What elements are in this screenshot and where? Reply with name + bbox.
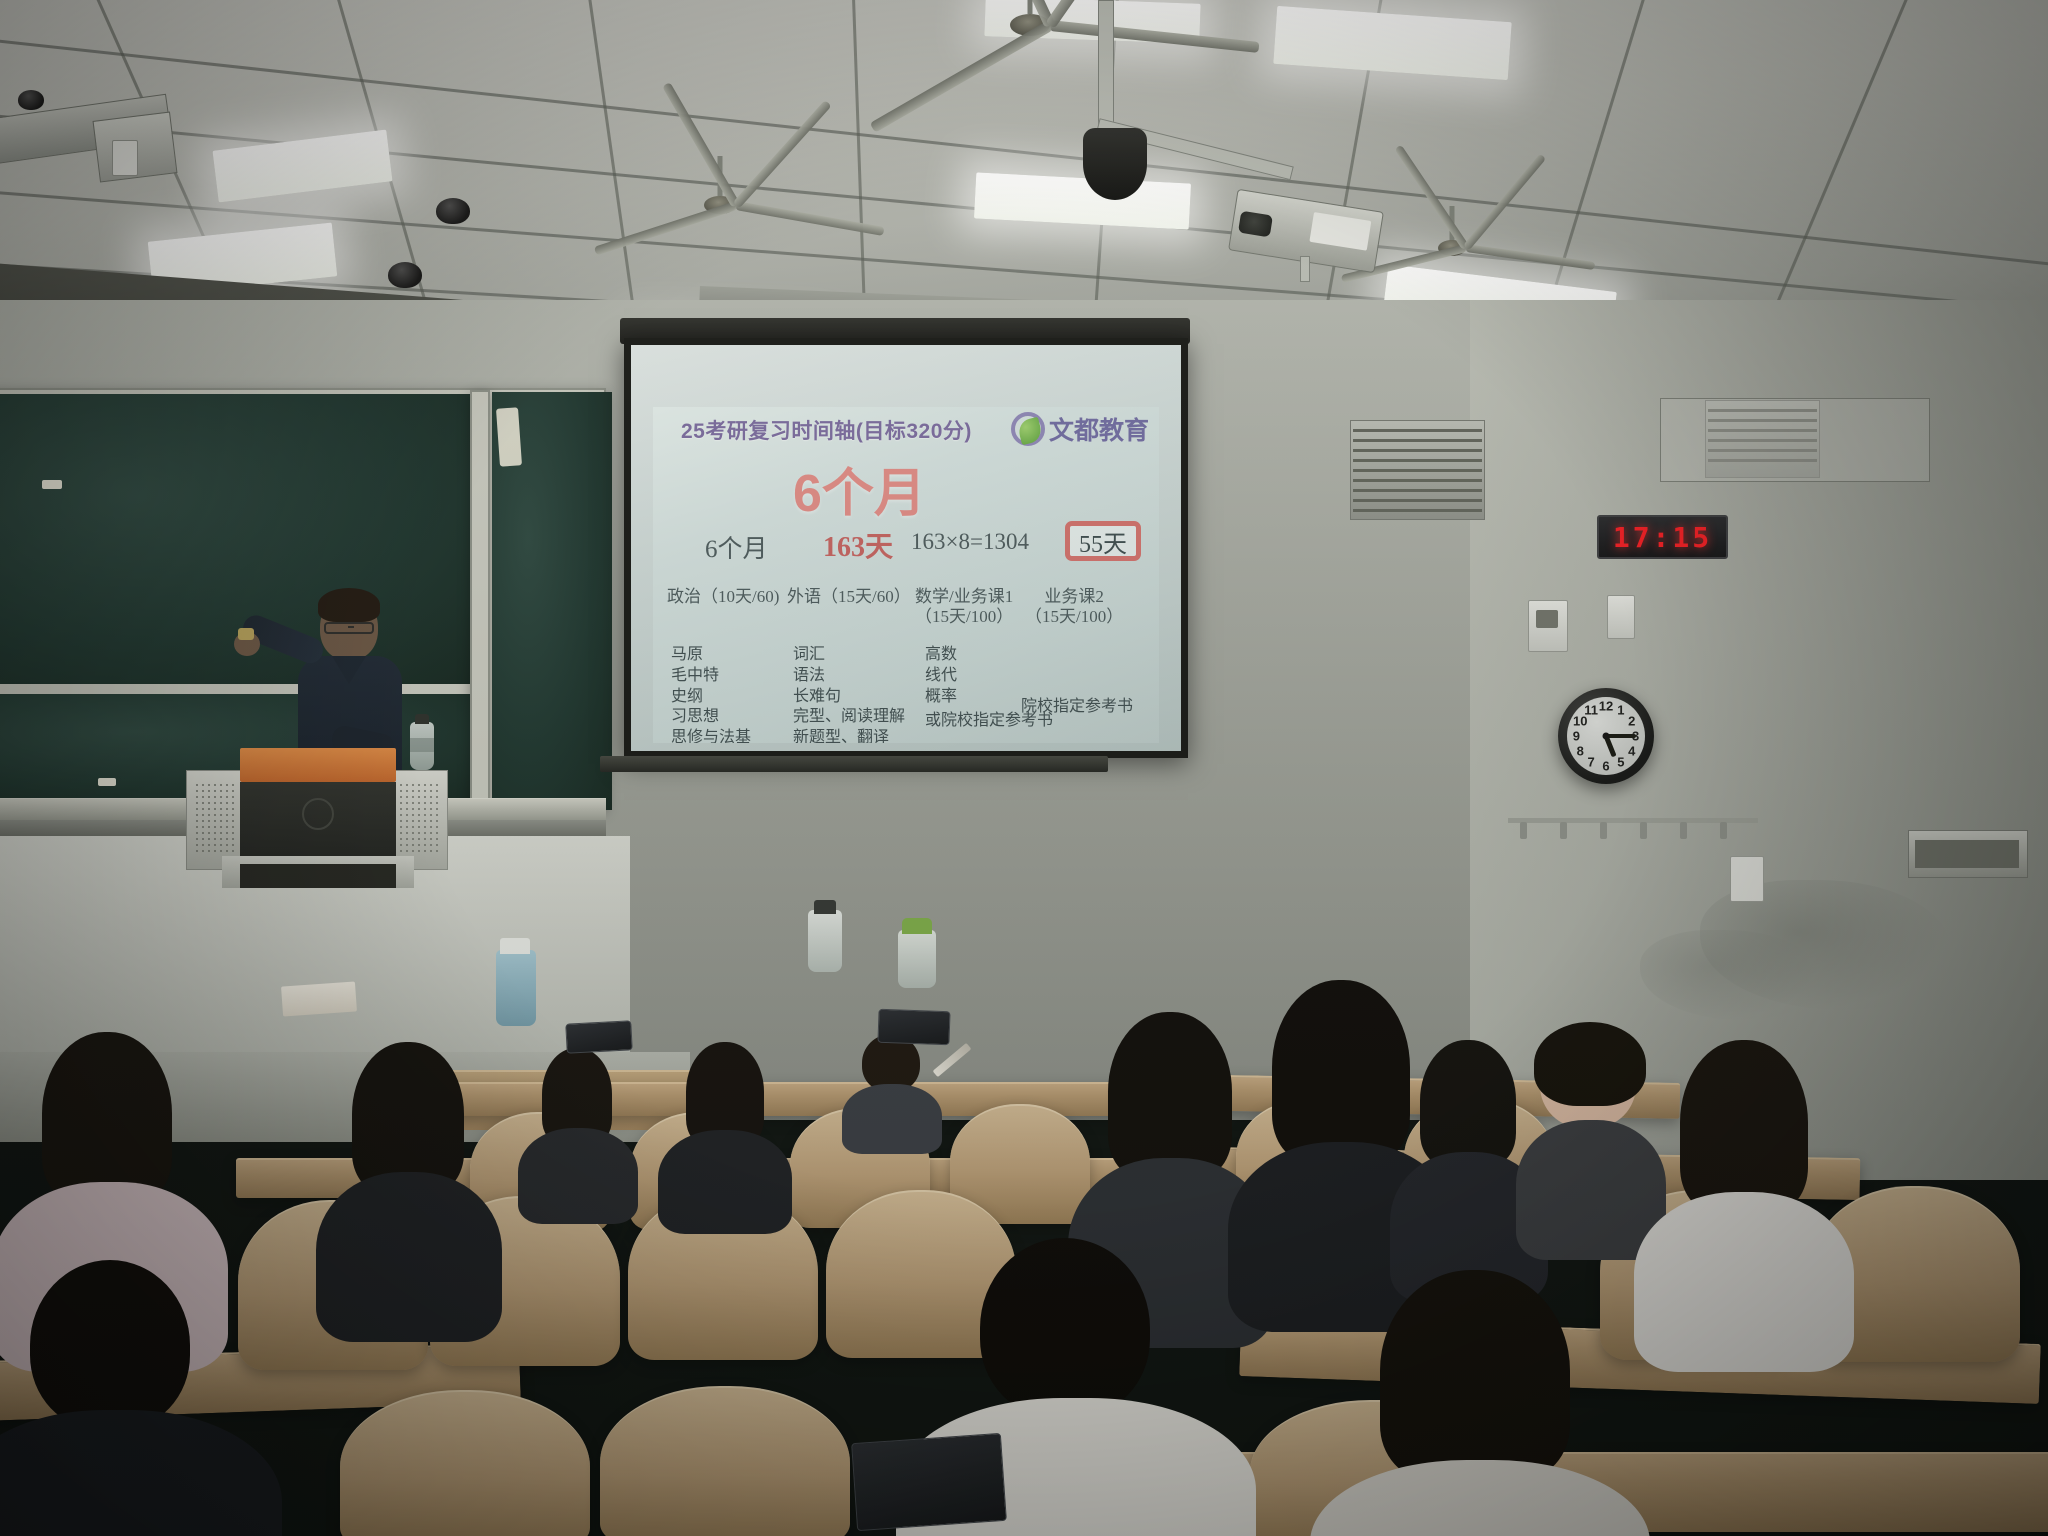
seat-back	[600, 1386, 850, 1536]
notebook-page[interactable]	[281, 981, 357, 1016]
clock-hour-4: 4	[1628, 743, 1635, 758]
list-item: 长难句	[793, 687, 905, 708]
list-item: 新题型、翻译	[793, 728, 905, 743]
bottle-cap	[902, 918, 932, 934]
clock-hour-6: 6	[1602, 758, 1609, 773]
column-header-politics: 政治（10天/60)	[667, 587, 779, 607]
clock-hour-1: 1	[1617, 703, 1624, 718]
slide-headline: 6个月	[793, 451, 926, 526]
coat-hook	[1640, 822, 1647, 839]
water-bottle[interactable]	[898, 930, 936, 988]
seat-back	[340, 1390, 590, 1536]
projector-support	[1300, 256, 1310, 282]
coat-hook	[1560, 822, 1567, 839]
column-items-major2: 院校指定参考书	[1021, 697, 1133, 718]
projector-mount	[1098, 0, 1114, 130]
column-items-politics: 马原 毛中特 史纲 习思想 思修与法基 形势与政策	[671, 645, 751, 743]
column-header-politics-text: 政治（10天/60)	[667, 587, 779, 606]
brand-name: 文都教育	[1049, 411, 1149, 447]
clock-hour-8: 8	[1577, 743, 1584, 758]
wall-socket[interactable]	[1730, 856, 1764, 902]
list-item: 毛中特	[671, 666, 751, 687]
list-item: 史纲	[671, 687, 751, 708]
summary-days: 163天	[823, 525, 893, 565]
slide-title: 25考研复习时间轴(目标320分)	[681, 415, 972, 445]
summary-months: 6个月	[705, 529, 768, 565]
summary-boxed-days: 55天	[1065, 521, 1141, 561]
clock-hour-5: 5	[1617, 754, 1624, 769]
lecture-hall-photo: 17:15 12 1 2 3 4 5 6 7 8 9 10 11	[0, 0, 2048, 1536]
column-header-english-text: 外语（15天/60）	[787, 587, 911, 606]
analog-wall-clock: 12 1 2 3 4 5 6 7 8 9 10 11	[1558, 688, 1654, 784]
list-item: 院校指定参考书	[1021, 697, 1133, 718]
column-header-math-line2: （15天/100）	[915, 607, 1013, 627]
column-header-english: 外语（15天/60）	[787, 587, 911, 607]
water-bottle[interactable]	[808, 910, 842, 972]
summary-equation: 163×8=1304	[911, 529, 1029, 555]
blackboard-divider	[470, 390, 490, 808]
list-item: 高数	[925, 645, 1053, 666]
podium-speaker-grille	[194, 782, 236, 856]
projection-screen: 25考研复习时间轴(目标320分) 文都教育 6个月 6个月 163天 163×…	[624, 338, 1188, 758]
ceiling-light-panel	[1273, 6, 1511, 80]
coat-hook	[1720, 822, 1727, 839]
digital-clock: 17:15	[1597, 515, 1728, 559]
list-item: 思修与法基	[671, 728, 751, 743]
column-header-math: 数学/业务课1 （15天/100）	[915, 587, 1013, 627]
list-item: 词汇	[793, 645, 905, 666]
clock-hour-7: 7	[1588, 754, 1595, 769]
dome-camera-icon	[436, 198, 470, 224]
eyeglasses-icon	[324, 622, 374, 634]
tablet-device[interactable]	[851, 1433, 1007, 1531]
podium-logo-emblem	[302, 798, 334, 830]
column-items-math: 高数 线代 概率 或院校指定参考书	[925, 645, 1053, 732]
dome-camera-icon	[1083, 128, 1147, 200]
water-bottle[interactable]	[496, 950, 536, 1026]
dome-camera-icon	[388, 262, 422, 288]
projection-screen-weight-bar	[600, 756, 1108, 772]
coat-hook	[1520, 822, 1527, 839]
brand-logo: 文都教育	[1011, 411, 1149, 447]
bottle-cap	[500, 938, 530, 954]
wall-switch-panel[interactable]	[1607, 595, 1635, 639]
wall-vent	[1350, 420, 1485, 520]
column-header-major2-line2: （15天/100）	[1025, 607, 1123, 627]
podium-speaker-grille	[398, 782, 440, 856]
column-items-english: 词汇 语法 长难句 完型、阅读理解 新题型、翻译 写作	[793, 645, 905, 743]
chalk-piece[interactable]	[42, 480, 62, 489]
dome-camera-icon	[18, 90, 44, 110]
podium	[186, 748, 448, 888]
ceiling-light-panel	[974, 172, 1191, 229]
list-item: 语法	[793, 666, 905, 687]
leaf-circle-icon	[1011, 412, 1045, 446]
clock-hour-2: 2	[1628, 714, 1635, 729]
list-item: 完型、阅读理解	[793, 707, 905, 728]
column-header-math-line1: 数学/业务课1	[915, 587, 1013, 607]
clock-hour-9: 9	[1573, 729, 1580, 744]
clock-minute-hand	[1606, 734, 1636, 738]
tablet-device[interactable]	[565, 1020, 632, 1053]
podium-top	[240, 748, 396, 782]
bottle-cap	[415, 714, 429, 724]
coat-hook	[1680, 822, 1687, 839]
tablet-device[interactable]	[877, 1009, 950, 1045]
bottle-cap	[814, 900, 836, 914]
column-header-major2: 业务课2 （15天/100）	[1025, 587, 1123, 627]
projected-slide: 25考研复习时间轴(目标320分) 文都教育 6个月 6个月 163天 163×…	[653, 407, 1159, 743]
clock-hour-12: 12	[1599, 699, 1613, 714]
list-item: 习思想	[671, 707, 751, 728]
digital-clock-time: 17:15	[1613, 521, 1712, 554]
list-item: 线代	[925, 666, 1053, 687]
chalk-piece[interactable]	[98, 778, 116, 786]
clock-hour-11: 11	[1584, 703, 1598, 718]
coat-hook	[1600, 822, 1607, 839]
list-item: 马原	[671, 645, 751, 666]
column-header-major2-line1: 业务课2	[1025, 587, 1123, 607]
